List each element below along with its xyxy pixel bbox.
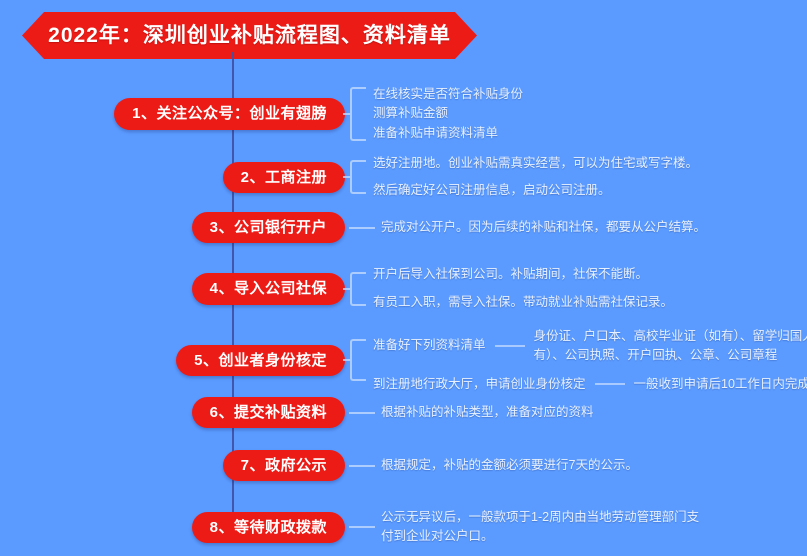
flow-step-6: 6、提交补贴资料 根据补贴的补贴类型，准备对应的资料 [0, 397, 594, 428]
page-title: 2022年：深圳创业补贴流程图、资料清单 [48, 25, 451, 46]
flow-step-5-branch-2-label: 到注册地行政大厅，申请创业身份核定 [373, 375, 586, 394]
flow-step-5-branch-1: 准备好下列资料清单 身份证、户口本、高校毕业证（如有）、留学归国人员证明（如 有… [373, 327, 807, 365]
flow-step-8-pill-column: 8、等待财政拨款 [0, 512, 345, 543]
flow-step-6-dash-connector [349, 412, 375, 414]
flow-step-5-bracket-connector [350, 339, 366, 381]
flow-step-3-detail-line: 完成对公开户。因为后续的补贴和社保，都要从公户结算。 [381, 218, 706, 237]
flow-step-6-detail-list: 根据补贴的补贴类型，准备对应的资料 [381, 403, 594, 422]
flow-step-8-detail-line: 公示无异议后，一般款项于1-2周内由当地劳动管理部门支 [381, 508, 699, 527]
flow-step-1: 1、关注公众号：创业有翅膀 在线核实是否符合补贴身份 测算补贴金额 准备补贴申请… [0, 85, 523, 143]
title-banner: 2022年：深圳创业补贴流程图、资料清单 [22, 12, 477, 59]
flow-step-5-branch-2-dash [595, 383, 625, 385]
flow-step-3: 3、公司银行开户 完成对公开户。因为后续的补贴和社保，都要从公户结算。 [0, 212, 706, 243]
flow-step-7-dash-connector [349, 465, 375, 467]
flow-step-5-pill-column: 5、创业者身份核定 [0, 345, 345, 376]
flow-step-6-detail-line: 根据补贴的补贴类型，准备对应的资料 [381, 403, 594, 422]
flow-step-4-detail-line: 开户后导入社保到公司。补贴期间，社保不能断。 [373, 265, 673, 284]
flow-step-1-detail-line: 在线核实是否符合补贴身份 [373, 85, 523, 104]
flow-step-5-branch-2: 到注册地行政大厅，申请创业身份核定 一般收到申请后10工作日内完成核定。 [373, 375, 807, 394]
flow-step-5-node[interactable]: 5、创业者身份核定 [176, 345, 345, 376]
flow-step-8: 8、等待财政拨款 公示无异议后，一般款项于1-2周内由当地劳动管理部门支 付到企… [0, 508, 699, 547]
flow-step-1-bracket-connector [350, 87, 366, 141]
flow-step-2: 2、工商注册 选好注册地。创业补贴需真实经营，可以为住宅或写字楼。 然后确定好公… [0, 154, 698, 201]
flow-step-4-bracket-connector [350, 272, 366, 306]
flow-step-5-branch-1-detail-line: 有）、公司执照、开户回执、公章、公司章程 [534, 346, 807, 365]
flow-step-5-branch-2-detail-line: 一般收到申请后10工作日内完成核定。 [634, 375, 807, 394]
flow-step-8-dash-connector [349, 526, 375, 528]
flow-step-1-detail-list: 在线核实是否符合补贴身份 测算补贴金额 准备补贴申请资料清单 [373, 85, 523, 143]
flow-step-4: 4、导入公司社保 开户后导入社保到公司。补贴期间，社保不能断。 有员工入职，需导… [0, 265, 673, 313]
flow-step-3-pill-column: 3、公司银行开户 [0, 212, 345, 243]
flow-step-5-branch-1-detail: 身份证、户口本、高校毕业证（如有）、留学归国人员证明（如 有）、公司执照、开户回… [534, 327, 807, 365]
flow-step-3-detail-list: 完成对公开户。因为后续的补贴和社保，都要从公户结算。 [381, 218, 706, 237]
flow-step-5-branch-1-dash [495, 345, 525, 347]
title-banner-shape: 2022年：深圳创业补贴流程图、资料清单 [22, 12, 477, 59]
flow-step-7: 7、政府公示 根据规定，补贴的金额必须要进行7天的公示。 [0, 450, 638, 481]
flow-step-7-detail-line: 根据规定，补贴的金额必须要进行7天的公示。 [381, 456, 638, 475]
flow-step-7-detail-list: 根据规定，补贴的金额必须要进行7天的公示。 [381, 456, 638, 475]
flow-step-2-node[interactable]: 2、工商注册 [223, 162, 345, 193]
flow-step-1-pill-column: 1、关注公众号：创业有翅膀 [0, 98, 345, 129]
flow-step-1-node[interactable]: 1、关注公众号：创业有翅膀 [114, 98, 345, 129]
flow-step-5-branch-list: 准备好下列资料清单 身份证、户口本、高校毕业证（如有）、留学归国人员证明（如 有… [373, 327, 807, 394]
flow-step-4-detail-line: 有员工入职，需导入社保。带动就业补贴需社保记录。 [373, 293, 673, 312]
flow-step-2-detail-line: 选好注册地。创业补贴需真实经营，可以为住宅或写字楼。 [373, 154, 698, 173]
flow-step-4-pill-column: 4、导入公司社保 [0, 273, 345, 304]
flow-step-2-pill-column: 2、工商注册 [0, 162, 345, 193]
flow-step-8-node[interactable]: 8、等待财政拨款 [192, 512, 345, 543]
flow-step-6-pill-column: 6、提交补贴资料 [0, 397, 345, 428]
flow-step-2-bracket-connector [350, 160, 366, 194]
flow-step-5: 5、创业者身份核定 准备好下列资料清单 身份证、户口本、高校毕业证（如有）、留学… [0, 327, 807, 394]
flow-step-3-dash-connector [349, 227, 375, 229]
flow-step-8-detail-list: 公示无异议后，一般款项于1-2周内由当地劳动管理部门支 付到企业对公户口。 [381, 508, 699, 547]
flow-step-5-branch-2-detail: 一般收到申请后10工作日内完成核定。 [634, 375, 807, 394]
flow-step-2-detail-list: 选好注册地。创业补贴需真实经营，可以为住宅或写字楼。 然后确定好公司注册信息，启… [373, 154, 698, 201]
flow-step-5-branch-1-label: 准备好下列资料清单 [373, 336, 486, 355]
flow-step-7-pill-column: 7、政府公示 [0, 450, 345, 481]
flow-step-1-detail-line: 准备补贴申请资料清单 [373, 124, 523, 143]
flow-step-4-detail-list: 开户后导入社保到公司。补贴期间，社保不能断。 有员工入职，需导入社保。带动就业补… [373, 265, 673, 313]
flow-step-8-detail-line: 付到企业对公户口。 [381, 527, 699, 546]
flowchart-canvas: 2022年：深圳创业补贴流程图、资料清单 1、关注公众号：创业有翅膀 在线核实是… [0, 0, 807, 556]
flow-step-3-node[interactable]: 3、公司银行开户 [192, 212, 345, 243]
flow-step-1-detail-line: 测算补贴金额 [373, 104, 523, 123]
flow-step-2-detail-line: 然后确定好公司注册信息，启动公司注册。 [373, 181, 698, 200]
flow-step-6-node[interactable]: 6、提交补贴资料 [192, 397, 345, 428]
flow-step-7-node[interactable]: 7、政府公示 [223, 450, 345, 481]
flow-step-5-branch-1-detail-line: 身份证、户口本、高校毕业证（如有）、留学归国人员证明（如 [534, 327, 807, 346]
flow-step-4-node[interactable]: 4、导入公司社保 [192, 273, 345, 304]
